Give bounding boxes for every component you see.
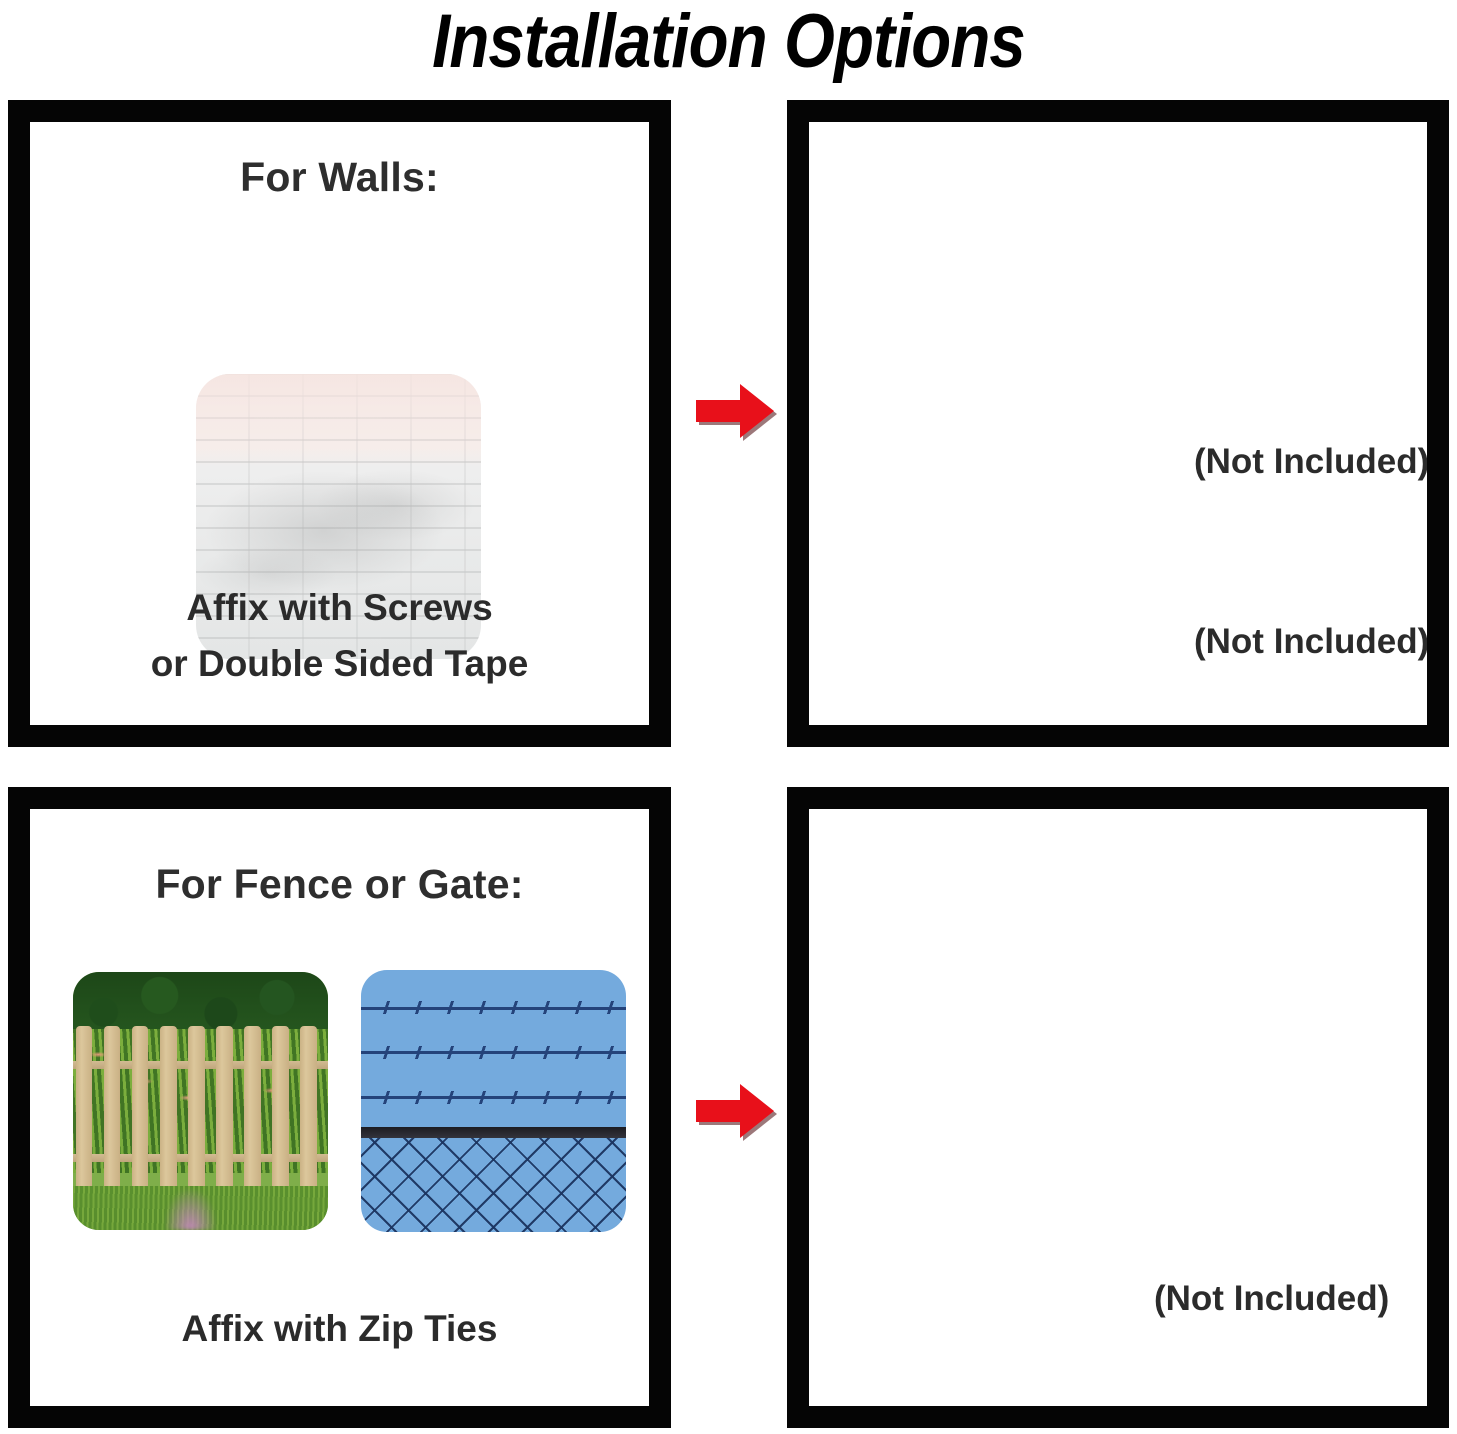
zipties-not-included-label: (Not Included) xyxy=(1154,1279,1389,1319)
panel-wall-hardware: (Not Included) xyxy=(787,100,1449,747)
walls-heading: For Walls: xyxy=(30,154,649,201)
red-arrow-right-icon xyxy=(692,1080,778,1142)
page-title: Installation Options xyxy=(102,0,1355,89)
chain-link-barbed-wire-fence-photo xyxy=(361,970,626,1232)
panel-zip-ties: (Not Included) xyxy=(787,787,1449,1428)
red-arrow-right-icon xyxy=(692,380,778,442)
fence-caption: Affix with Zip Ties xyxy=(8,1301,671,1357)
panel-for-walls: For Walls: Affix with Screws or Double S… xyxy=(8,100,671,747)
tape-not-included-label: (Not Included) xyxy=(1194,442,1427,482)
installation-options-infographic: Installation Options For Walls: Affix wi… xyxy=(0,0,1457,1434)
fence-heading: For Fence or Gate: xyxy=(30,861,649,908)
walls-caption-line2: or Double Sided Tape xyxy=(30,636,649,692)
wooden-picket-fence-photo xyxy=(73,972,328,1230)
walls-caption: Affix with Screws or Double Sided Tape xyxy=(30,580,649,691)
screws-not-included-label: (Not Included) xyxy=(1194,622,1427,662)
walls-caption-line1: Affix with Screws xyxy=(30,580,649,636)
